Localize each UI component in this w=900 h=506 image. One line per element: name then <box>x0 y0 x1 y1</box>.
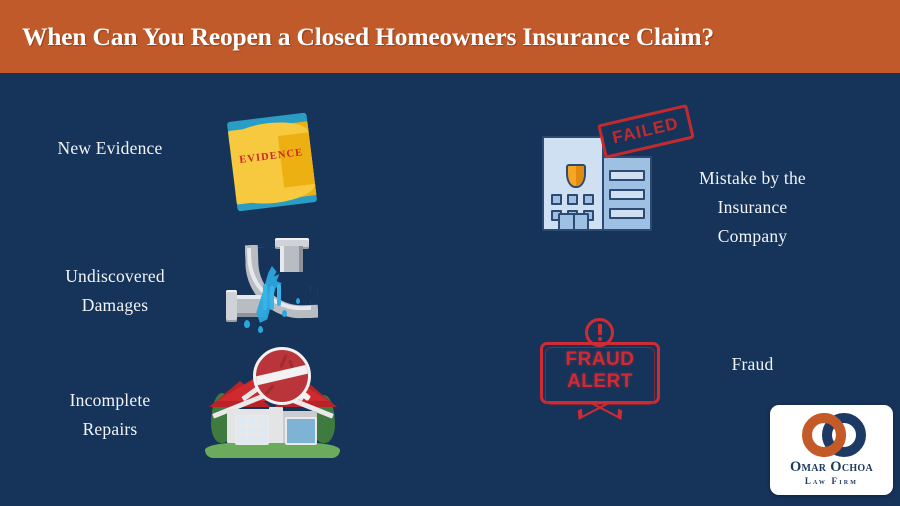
fraud-alert-icon: FRAUD ALERT <box>532 318 668 418</box>
logo-rings-icon <box>770 413 893 457</box>
building-window-bar <box>609 208 645 219</box>
water-streak <box>263 284 267 310</box>
house-window-right <box>285 417 317 445</box>
exclamation-mark-icon <box>598 324 602 335</box>
water-streak <box>270 286 274 310</box>
reason-label-line-1: Mistake by the <box>670 164 835 193</box>
page-title: When Can You Reopen a Closed Homeowners … <box>22 0 714 73</box>
leaking-pipe-icon <box>218 238 323 334</box>
evidence-bag-shape: EVIDENCE <box>227 112 317 211</box>
reason-label-insurance-mistake: Mistake by the Insurance Company <box>670 164 835 251</box>
building-window <box>551 194 562 205</box>
water-streak <box>277 284 281 306</box>
house-window-grid <box>235 415 269 445</box>
reason-label-line-1: Incomplete <box>20 386 200 415</box>
building-window-bar <box>609 189 645 200</box>
fraud-alert-line-2: ALERT <box>540 371 660 393</box>
failed-stamp: FAILED <box>597 104 694 159</box>
insurance-building-icon: FAILED <box>540 118 665 236</box>
pipe-flange-left <box>226 290 237 322</box>
logo-ring-overlap <box>822 413 846 457</box>
reason-label-line-2: Repairs <box>20 415 200 444</box>
exclamation-dot-icon <box>598 337 602 341</box>
lawn <box>205 442 340 458</box>
magnifier-icon <box>253 347 311 405</box>
house-wall-column <box>269 407 283 443</box>
building-main <box>542 136 604 231</box>
infographic-canvas: When Can You Reopen a Closed Homeowners … <box>0 0 900 506</box>
logo-name: Omar Ochoa <box>770 459 893 476</box>
shield-icon <box>566 164 586 188</box>
damaged-house-icon <box>205 345 340 460</box>
logo-card[interactable]: Omar Ochoa Law Firm <box>770 405 893 495</box>
reason-label-fraud: Fraud <box>680 350 825 379</box>
building-window <box>583 194 594 205</box>
reason-label-incomplete-repairs: Incomplete Repairs <box>20 386 200 444</box>
fraud-alert-text: FRAUD ALERT <box>540 349 660 393</box>
water-drop <box>244 320 250 328</box>
building-annex <box>602 156 652 231</box>
reason-label-line-2: Damages <box>20 291 210 320</box>
building-window-bar <box>609 170 645 181</box>
reason-label-line-2: Insurance <box>670 193 835 222</box>
water-drop <box>296 298 300 304</box>
water-drop <box>282 310 287 317</box>
evidence-bag-icon: EVIDENCE <box>223 107 323 215</box>
reason-label-undiscovered-damages: Undiscovered Damages <box>20 262 210 320</box>
reason-label-line-1: Undiscovered <box>20 262 210 291</box>
building-window <box>567 194 578 205</box>
reason-label-line-3: Company <box>670 222 835 251</box>
fraud-alert-line-1: FRAUD <box>540 349 660 371</box>
logo-tagline: Law Firm <box>770 476 893 486</box>
reason-label-new-evidence: New Evidence <box>20 134 200 163</box>
water-drop <box>258 326 263 333</box>
building-door <box>558 213 589 229</box>
